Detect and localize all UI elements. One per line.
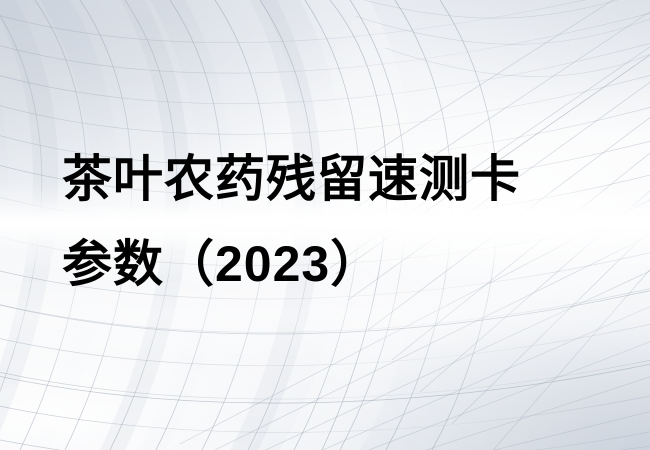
banner-title: 茶叶农药残留速测卡 参数（2023） <box>62 137 602 307</box>
banner-title-line-2: 参数（2023） <box>62 222 602 307</box>
banner-title-line-1: 茶叶农药残留速测卡 <box>62 137 602 222</box>
banner-image: 茶叶农药残留速测卡 参数（2023） <box>0 0 650 450</box>
